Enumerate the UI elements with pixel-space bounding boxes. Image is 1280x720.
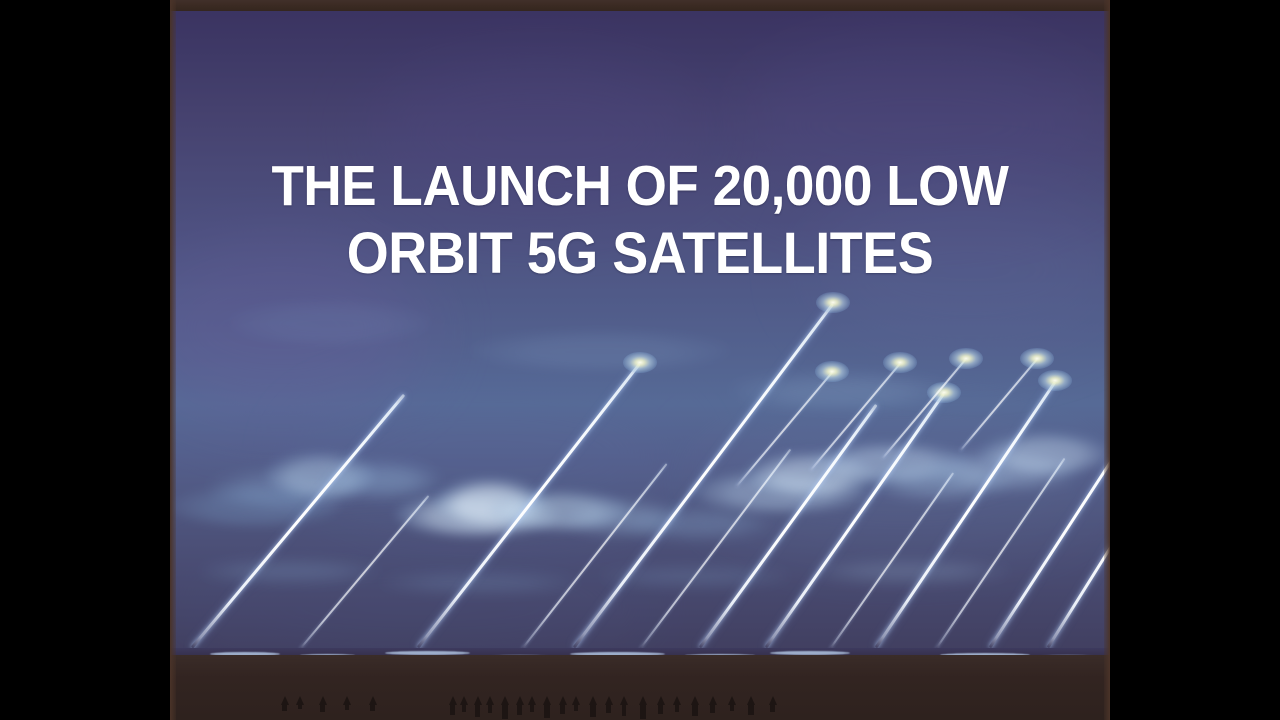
tree-silhouette [770, 703, 775, 712]
tree-silhouette [658, 703, 663, 714]
tree-silhouette [560, 703, 565, 714]
tree-silhouette [748, 703, 754, 715]
tree-silhouette [730, 703, 734, 711]
tree-silhouette [298, 703, 302, 709]
tree-silhouette [544, 703, 550, 718]
tree-silhouette [606, 703, 611, 713]
tree-silhouette [640, 703, 646, 719]
foreground-land [170, 655, 1110, 720]
tree-silhouette [450, 703, 455, 715]
night-sky [170, 0, 1110, 652]
tree-silhouette [282, 703, 287, 711]
tree-silhouette [488, 703, 492, 713]
scene-photo: THE LAUNCH OF 20,000 LOW ORBIT 5G SATELL… [170, 0, 1110, 720]
tree-silhouette [462, 703, 466, 712]
video-frame: THE LAUNCH OF 20,000 LOW ORBIT 5G SATELL… [0, 0, 1280, 720]
tree-silhouette [530, 703, 534, 712]
tree-silhouette [692, 703, 698, 716]
letterbox-left [0, 0, 170, 720]
tree-silhouette [675, 703, 679, 712]
tree-silhouette [475, 703, 480, 717]
tree-silhouette [502, 703, 508, 719]
tree-silhouette [370, 703, 375, 711]
tree-silhouette [622, 703, 626, 716]
letterbox-right [1110, 0, 1280, 720]
tree-silhouette [590, 703, 596, 717]
tree-silhouette [345, 703, 349, 710]
tree-silhouette [710, 703, 715, 713]
tree-silhouette [574, 703, 578, 711]
tree-silhouette [517, 703, 522, 715]
tree-silhouette [320, 703, 325, 712]
